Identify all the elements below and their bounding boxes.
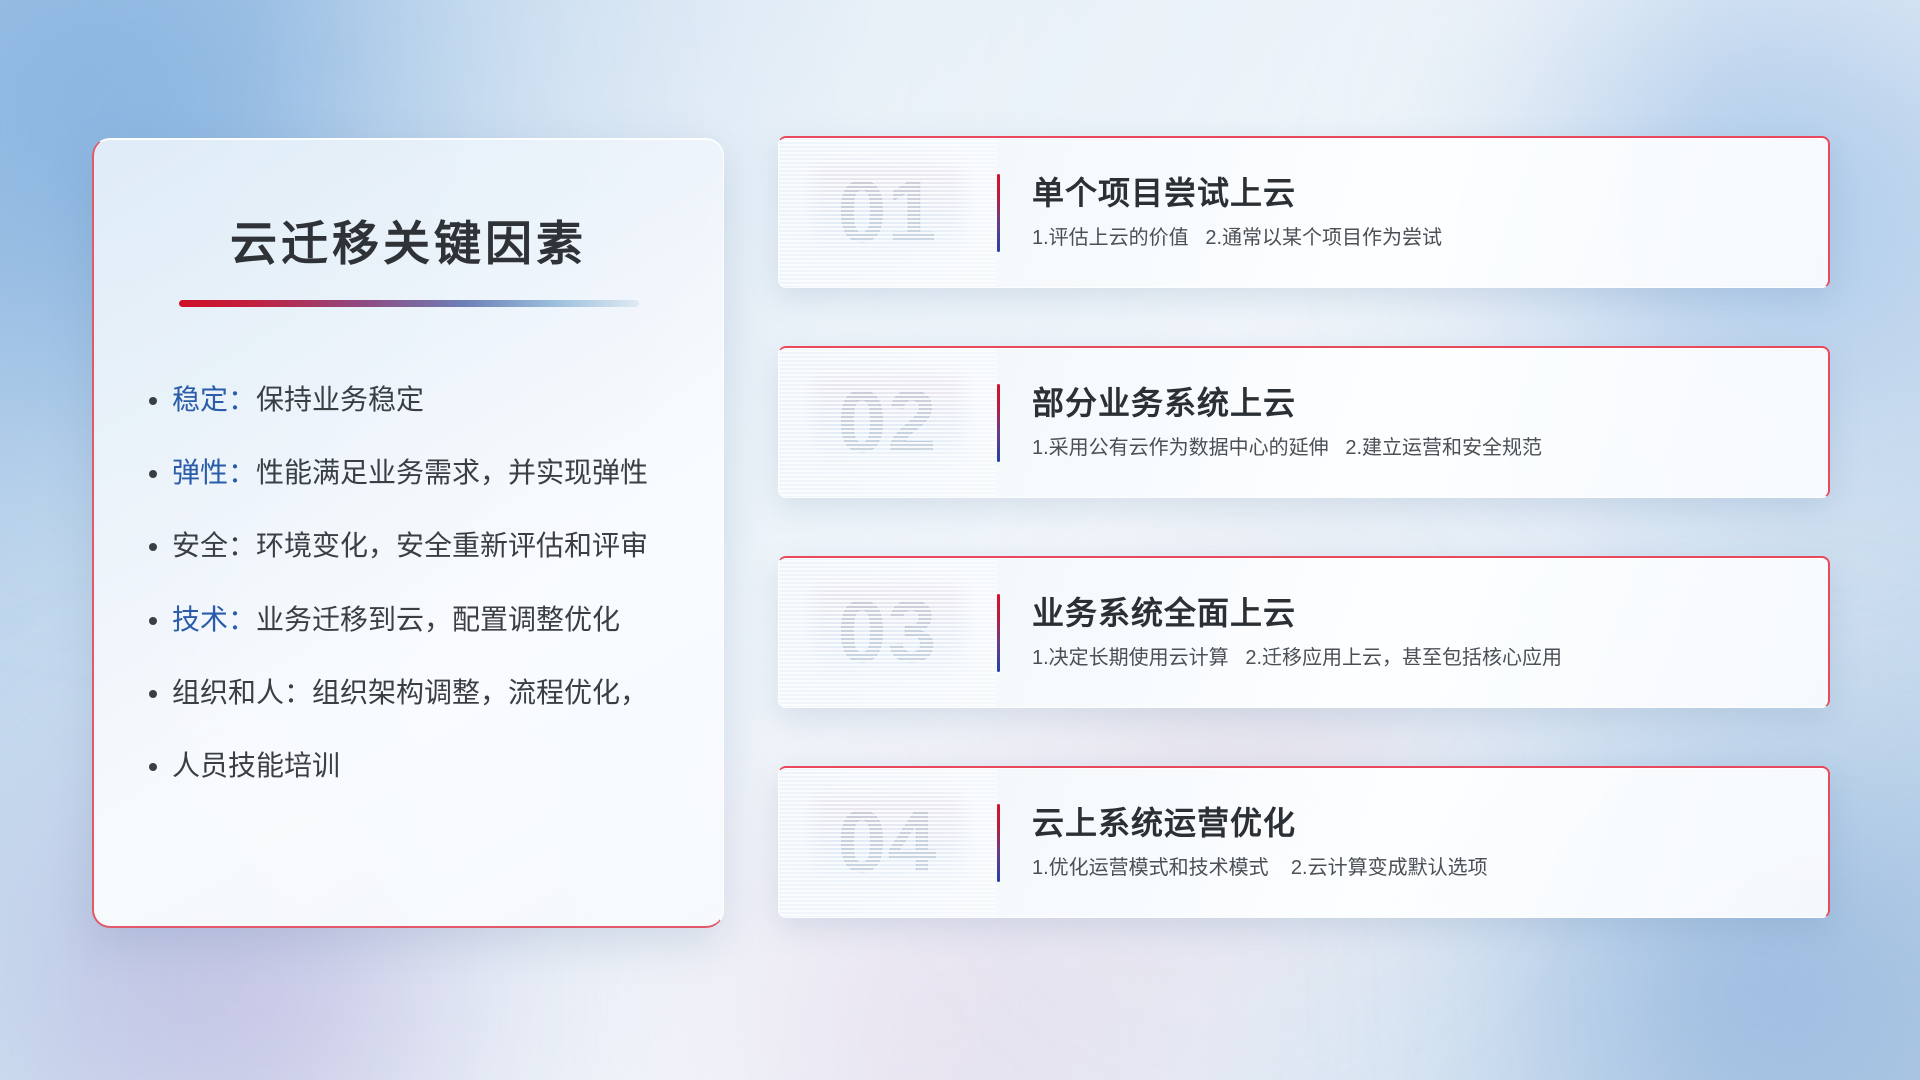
stage-title: 部分业务系统上云 <box>1032 384 1828 422</box>
slide-stage: 云迁移关键因素 稳定：保持业务稳定弹性：性能满足业务需求，并实现弹性安全：环境变… <box>0 0 1920 1080</box>
stage-title: 业务系统全面上云 <box>1032 594 1828 632</box>
factor-item: 技术：业务迁移到云，配置调整优化 <box>172 605 679 634</box>
key-factors-panel: 云迁移关键因素 稳定：保持业务稳定弹性：性能满足业务需求，并实现弹性安全：环境变… <box>92 138 724 928</box>
stage-description: 1.评估上云的价值 2.通常以某个项目作为尝试 <box>1032 226 1828 251</box>
stage-number: 03 <box>779 558 997 707</box>
factor-item: 组织和人：组织架构调整，流程优化， <box>172 678 679 707</box>
factor-text: 业务迁移到云，配置调整优化 <box>256 604 620 635</box>
stage-number-glow <box>813 585 963 681</box>
stage-card[interactable]: 02部分业务系统上云1.采用公有云作为数据中心的延伸 2.建立运营和安全规范 <box>778 346 1830 498</box>
stage-card[interactable]: 01单个项目尝试上云1.评估上云的价值 2.通常以某个项目作为尝试 <box>778 136 1830 288</box>
factor-label: 技术： <box>172 604 256 635</box>
factor-text: 保持业务稳定 <box>256 384 424 415</box>
factor-text: 环境变化，安全重新评估和评审 <box>256 530 648 561</box>
stage-number-glow <box>813 795 963 891</box>
stage-number: 04 <box>779 768 997 917</box>
page-title: 云迁移关键因素 <box>138 217 679 272</box>
stage-card[interactable]: 04云上系统运营优化1.优化运营模式和技术模式 2.云计算变成默认选项 <box>778 766 1830 918</box>
stage-card[interactable]: 03业务系统全面上云1.决定长期使用云计算 2.迁移应用上云，甚至包括核心应用 <box>778 556 1830 708</box>
title-underline-rule <box>179 300 639 307</box>
factor-label: 稳定： <box>172 384 256 415</box>
factor-item: 稳定：保持业务稳定 <box>172 385 679 414</box>
stage-title: 云上系统运营优化 <box>1032 804 1828 842</box>
factor-label: 安全： <box>172 530 256 561</box>
stage-description: 1.决定长期使用云计算 2.迁移应用上云，甚至包括核心应用 <box>1032 646 1828 671</box>
stage-number-glow <box>813 375 963 471</box>
stage-card-body: 云上系统运营优化1.优化运营模式和技术模式 2.云计算变成默认选项 <box>1000 804 1828 881</box>
stage-card-body: 单个项目尝试上云1.评估上云的价值 2.通常以某个项目作为尝试 <box>1000 174 1828 251</box>
factor-text: 性能满足业务需求，并实现弹性 <box>256 457 648 488</box>
factor-label: 弹性： <box>172 457 256 488</box>
factor-label: 组织和人： <box>172 677 312 708</box>
stage-card-list: 01单个项目尝试上云1.评估上云的价值 2.通常以某个项目作为尝试02部分业务系… <box>778 136 1830 918</box>
stage-title: 单个项目尝试上云 <box>1032 174 1828 212</box>
stage-number: 02 <box>779 348 997 497</box>
factor-text: 组织架构调整，流程优化， <box>312 677 648 708</box>
factor-text: 人员技能培训 <box>172 750 340 781</box>
stage-description: 1.采用公有云作为数据中心的延伸 2.建立运营和安全规范 <box>1032 436 1828 461</box>
factor-item: 安全：环境变化，安全重新评估和评审 <box>172 531 679 560</box>
stage-number-glow <box>813 165 963 261</box>
stage-number: 01 <box>779 138 997 287</box>
factor-item: 弹性：性能满足业务需求，并实现弹性 <box>172 458 679 487</box>
stage-card-body: 部分业务系统上云1.采用公有云作为数据中心的延伸 2.建立运营和安全规范 <box>1000 384 1828 461</box>
factor-item: 人员技能培训 <box>172 751 679 780</box>
factor-list: 稳定：保持业务稳定弹性：性能满足业务需求，并实现弹性安全：环境变化，安全重新评估… <box>138 385 679 781</box>
stage-description: 1.优化运营模式和技术模式 2.云计算变成默认选项 <box>1032 856 1828 881</box>
stage-card-body: 业务系统全面上云1.决定长期使用云计算 2.迁移应用上云，甚至包括核心应用 <box>1000 594 1828 671</box>
